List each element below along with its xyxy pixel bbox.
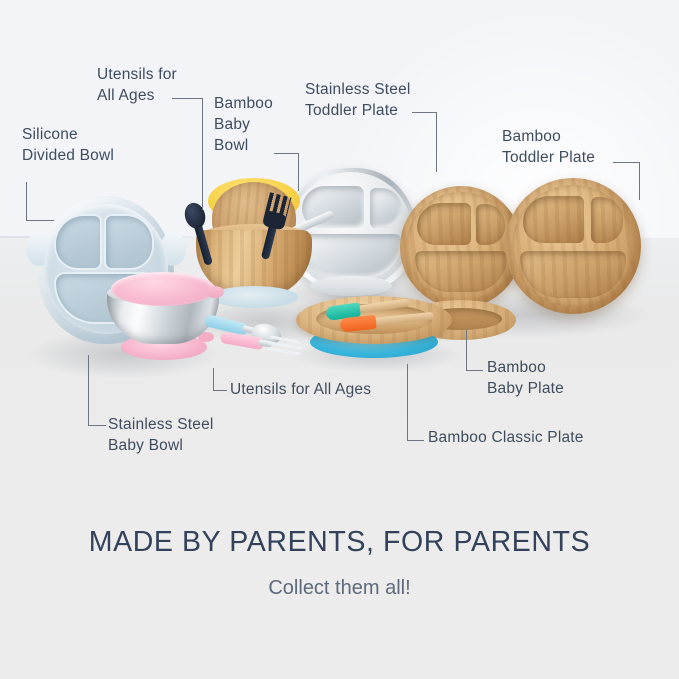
product-photo-stage: Silicone Divided Bowl Utensils for All A… — [0, 0, 679, 480]
label-bamboo-baby-plate: Bamboo Baby Plate — [487, 357, 564, 399]
fork-tines — [267, 335, 304, 359]
label-utensils-bottom: Utensils for All Ages — [230, 379, 371, 400]
caption-block: MADE BY PARENTS, FOR PARENTS Collect the… — [0, 480, 679, 679]
product-bamboo-toddler-plate-back[interactable] — [400, 186, 522, 308]
label-bamboo-toddler-plate: Bamboo Toddler Plate — [502, 126, 595, 168]
plate-compartment-1 — [523, 196, 584, 244]
label-stainless-steel-toddler-plate: Stainless Steel Toddler Plate — [305, 79, 411, 121]
subheadline: Collect them all! — [268, 577, 410, 600]
label-utensils-top: Utensils for All Ages — [97, 64, 177, 106]
product-bamboo-toddler-plate-front[interactable] — [505, 178, 641, 314]
label-bamboo-baby-bowl: Bamboo Baby Bowl — [214, 93, 273, 156]
label-bamboo-classic-plate: Bamboo Classic Plate — [428, 427, 584, 448]
silicone-lid-pink — [111, 272, 215, 306]
headline: MADE BY PARENTS, FOR PARENTS — [89, 526, 590, 559]
spoon-head — [182, 200, 208, 231]
label-stainless-steel-baby-bowl: Stainless Steel Baby Bowl — [108, 414, 214, 456]
lid-pull-tab — [206, 286, 224, 298]
label-silicone-divided-bowl: Silicone Divided Bowl — [22, 124, 114, 166]
product-utensils-for-all-ages[interactable] — [204, 304, 308, 360]
plate-base — [310, 276, 392, 296]
product-bamboo-classic-plate[interactable] — [296, 296, 452, 362]
fork-tines — [264, 192, 291, 221]
plate-compartment-1 — [417, 203, 471, 244]
bowl-compartment-2 — [106, 216, 152, 268]
